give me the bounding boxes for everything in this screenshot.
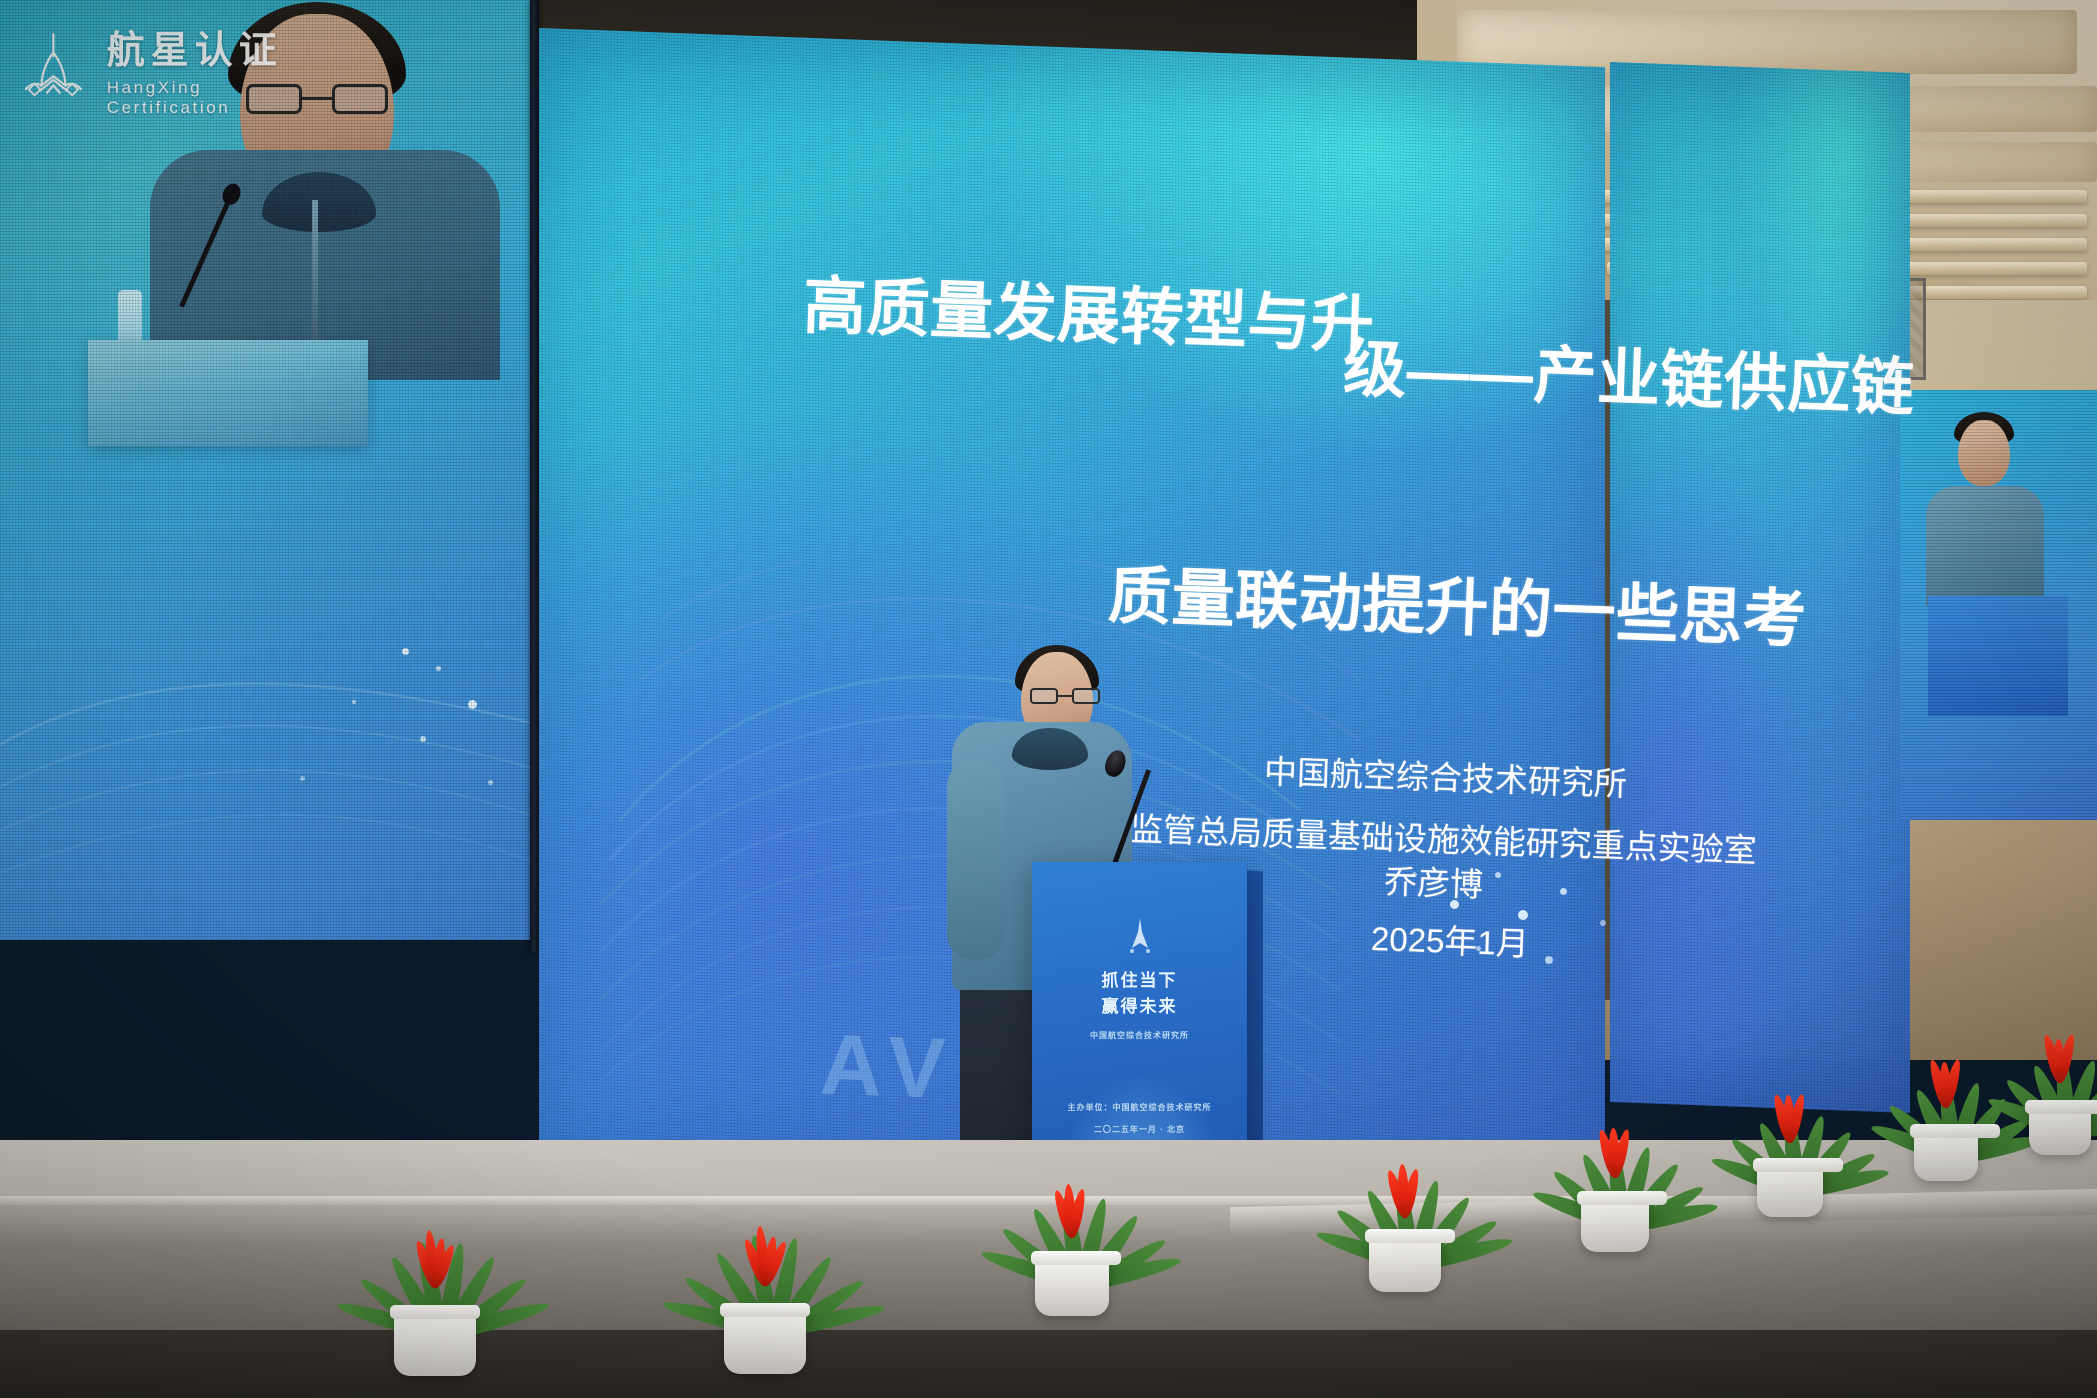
right-side-led-panel (1900, 390, 2097, 820)
bromeliad-plant (310, 1160, 560, 1398)
screen-seam (530, 0, 539, 952)
bromeliad-bract (2040, 1021, 2080, 1083)
water-bottle (118, 290, 142, 362)
podium-slogan-line1: 抓住当下 (1032, 966, 1247, 991)
rocket-tower-icon (14, 25, 93, 111)
flower-pot (394, 1310, 476, 1376)
flower-pot (724, 1308, 806, 1374)
bromeliad-bract (415, 1226, 455, 1288)
bromeliad-plant (640, 1150, 890, 1398)
watermark-chinese-text: 航星认证 (107, 19, 314, 74)
bromeliad-bract (1595, 1116, 1635, 1178)
hangxing-logo-icon (1125, 916, 1155, 956)
bromeliad-plant (1960, 985, 2097, 1195)
bromeliad-bract (1385, 1156, 1425, 1218)
flower-pot (1581, 1196, 1649, 1252)
flower-pot (1757, 1163, 1823, 1217)
left-led-screen (0, 0, 536, 940)
conference-photo: AVIC 高质量发展转型与升 级——产业链供应链 质量联动提升的一些思考 中国航… (0, 0, 2097, 1398)
slide-credit-author: 乔彦博 (1383, 855, 1484, 906)
bromeliad-bract (1052, 1176, 1092, 1238)
bromeliad-bract (745, 1224, 785, 1286)
flower-pot (1035, 1256, 1109, 1316)
podium-slogan-line2: 赢得未来 (1032, 992, 1247, 1017)
flower-pot (2029, 1105, 2091, 1155)
bromeliad-plant (1285, 1090, 1525, 1330)
watermark-logo: 航星认证 HangXing Certification (14, 18, 314, 118)
watermark-english-text: HangXing Certification (107, 78, 314, 118)
microphone-icon (179, 196, 232, 308)
slide-credit-date: 2025年1月 (1370, 912, 1529, 965)
eyeglasses-icon (1030, 688, 1100, 704)
flower-pot (1369, 1234, 1441, 1292)
closeup-podium (88, 340, 368, 446)
bromeliad-plant (952, 1110, 1192, 1350)
podium-sub1: 中国航空综合技术研究所 (1032, 1030, 1247, 1041)
bromeliad-bract (1770, 1081, 1810, 1143)
screen-swirl-graphic (0, 470, 540, 900)
